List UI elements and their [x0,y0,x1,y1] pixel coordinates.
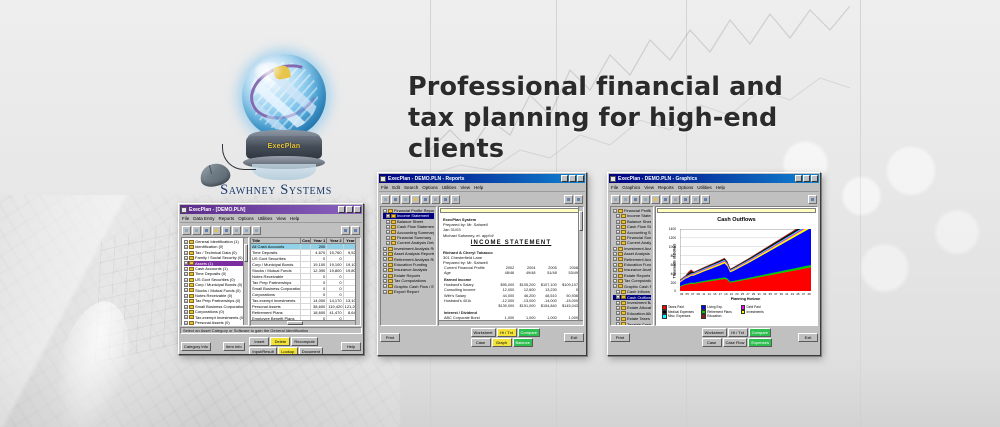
table-cell[interactable]: 0 [327,286,343,291]
lookup-button[interactable]: Lookup [278,347,298,355]
table-cell[interactable]: 19,100 [311,262,327,267]
table-cell[interactable] [301,244,311,249]
report-button-row-2[interactable]: Case Graph Balance [471,338,541,347]
tree-item[interactable]: +Family / Social Security (0) [184,255,246,260]
table-cell[interactable] [301,274,311,279]
window-data-entry-titlebar[interactable]: ExecPlan - [DEMO.PLN] [180,205,362,214]
folder-icon [621,214,626,218]
tree-expander-icon[interactable]: + [386,230,390,234]
page-title: Professional financial and tax planning … [408,72,828,165]
folder-icon [189,278,194,282]
edit-button-group[interactable]: Insert Delete Recompute Input/Result Loo… [249,337,323,355]
report-toolbar-preview-icon[interactable] [401,195,410,204]
chart-y-tick-label: 800 [665,254,676,258]
window-data-entry-title: ExecPlan - [DEMO.PLN] [189,207,338,213]
toolbar-new-icon[interactable] [182,226,191,235]
menu-item-options[interactable]: Options [238,216,254,221]
help-button[interactable]: Help [341,342,361,351]
report-button-row-1[interactable]: Worksheet Hi / Txt Compare [471,328,541,337]
logo-base-label: ExecPlan [246,143,322,150]
folder-icon [391,230,396,234]
menu-item-help[interactable]: Help [290,216,299,221]
tree-expander-icon[interactable]: + [616,230,620,234]
report-toolbar-help-icon[interactable] [574,195,583,204]
report-toolbar-find-icon[interactable] [411,195,420,204]
recompute-button[interactable]: Recompute [291,337,317,346]
tree-expander-icon[interactable]: + [184,261,188,265]
table-cell[interactable] [301,310,311,315]
table-cell[interactable] [301,268,311,273]
tree-expander-icon[interactable]: + [184,288,188,292]
tree-expander-icon[interactable]: + [613,284,617,288]
app-icon [181,207,187,213]
chart-toolbar-open-icon[interactable] [611,195,620,204]
window-data-entry[interactable]: ExecPlan - [DEMO.PLN] File Data Entry Re… [178,203,364,355]
window-chart-menubar[interactable]: File Graphics View Reports Options Utili… [609,184,819,192]
menu-item-view[interactable]: View [276,216,286,221]
tree-expander-icon[interactable]: + [184,251,188,255]
chart-tree-panel[interactable]: +Financial Profile Reports+Income Statem… [610,206,654,326]
chart-x-tick-label: 45 [796,292,799,296]
table-cell[interactable]: 4,670 [311,250,327,255]
report-menu-edit[interactable]: Edit [392,185,400,190]
chart-compare-button[interactable]: Compare [749,328,771,337]
grid-column-header[interactable]: Year 1 [311,238,327,243]
table-cell[interactable] [301,298,311,303]
chart-panel[interactable]: Cash Outflows Thousands of Dollars 14001… [655,206,818,326]
folder-icon [189,305,194,309]
table-cell[interactable] [301,286,311,291]
report-close-button[interactable] [577,175,584,182]
chart-x-tick-label: 49 [807,292,810,296]
tree-expander-icon[interactable]: + [383,268,387,272]
chart-print-button[interactable]: Print [610,333,630,342]
table-cell[interactable]: 12,390 [311,268,327,273]
report-case-button[interactable]: Case [471,338,491,347]
chart-toolbar-zoom-icon[interactable] [701,195,710,204]
item-info-button[interactable]: Item Info [223,342,245,351]
tree-expander-icon[interactable]: + [616,295,620,299]
chart-toolbar-save-icon[interactable] [621,195,630,204]
status-text: Select an Asset Category or Software to … [180,327,362,334]
toolbar-calc-icon[interactable] [222,226,231,235]
report-tree[interactable]: +Financial Profile Reports+Income Statem… [381,207,436,296]
window-data-entry-menubar[interactable]: File Data Entry Reports Options Utilitie… [180,215,362,223]
category-info-button[interactable]: Category Info [181,342,211,351]
report-button-group[interactable]: Worksheet Hi / Txt Compare Case Graph Ba… [471,328,541,347]
chart-window-controls[interactable] [795,175,818,182]
document-button[interactable]: Document [299,347,323,355]
toolbar-report-icon[interactable] [232,226,241,235]
table-cell[interactable]: 14,170 [327,298,343,303]
brand-name: Sawhney Systems [196,182,356,199]
window-data-entry-toolbar[interactable] [180,224,362,236]
folder-icon [189,299,194,303]
table-cell[interactable]: Corporations [251,292,301,297]
report-menu-help[interactable]: Help [474,185,483,190]
chart-legend-item: Education [701,314,738,319]
window-report-toolbar[interactable] [379,193,585,205]
chart-menu-utilities[interactable]: Utilities [697,185,712,190]
chart-x-tick-label: 17 [719,292,722,296]
tree-expander-icon[interactable]: + [383,279,387,283]
chart-toolbar-color-icon[interactable] [691,195,700,204]
tree-expander-icon[interactable]: + [386,241,390,245]
tree-item-label: Export Report [394,289,419,294]
tree-expander-icon[interactable]: + [184,305,188,309]
window-data-entry-buttonrow[interactable]: Category Info Item Info Insert Delete Re… [179,335,363,355]
table-cell[interactable]: 0 [311,286,327,291]
report-minimize-button[interactable] [561,175,568,182]
window-controls[interactable] [338,206,361,213]
chart-x-tick-label: 41 [785,292,788,296]
table-cell[interactable]: 18,600 [311,310,327,315]
tree-expander-icon[interactable]: + [184,299,188,303]
window-chart-title: ExecPlan - DEMO.PLN - Graphics [618,176,795,182]
table-cell[interactable]: 14,000 [311,298,327,303]
report-scrollbar-horizontal[interactable] [439,320,583,325]
table-cell[interactable] [327,244,343,249]
folder-icon [189,272,194,276]
table-cell[interactable]: 0 [311,280,327,285]
folder-icon [618,268,623,272]
chart-toolbar-print-icon[interactable] [631,195,640,204]
toolbar-open-icon[interactable] [192,226,201,235]
tree-expander-icon[interactable]: + [616,317,620,321]
report-toolbar-chart-icon[interactable] [431,195,440,204]
tree-expander-icon[interactable]: + [383,247,387,251]
grid-column-header[interactable]: Title [251,238,301,243]
folder-icon [621,290,626,294]
tree-expander-icon[interactable]: + [613,209,617,213]
table-cell[interactable] [301,304,311,309]
tree-expander-icon[interactable]: + [184,294,188,298]
folder-icon [618,279,623,283]
tree-expander-icon[interactable]: + [616,322,620,326]
menu-item-file[interactable]: File [182,216,189,221]
chart-y-tick-label: 1200 [665,236,676,240]
chart-toolbar-bar-icon[interactable] [641,195,650,204]
tree-item[interactable]: +Retirement Plans (0) [184,326,246,327]
chart-button-row-1[interactable]: Worksheet Hi / Txt Compare [702,328,772,337]
chart-legend: Taxes PaidLiving Exp.Debt PaidMedical Ex… [656,303,817,321]
report-exit-button[interactable]: Exit [564,333,584,342]
chart-menu-options[interactable]: Options [678,185,694,190]
chart-toolbar-legend-icon[interactable] [681,195,690,204]
folder-icon [621,322,626,326]
report-preview-banner [440,208,582,213]
table-cell[interactable]: 19,100 [327,262,343,267]
tree-expander-icon[interactable]: + [613,268,617,272]
table-cell[interactable]: 0 [327,274,343,279]
window-report-buttonrow[interactable]: Print Worksheet Hi / Txt Compare Case Gr… [378,326,586,349]
report-toolbar-print-icon[interactable] [391,195,400,204]
chart-menu-graphics[interactable]: Graphics [622,185,640,190]
close-button[interactable] [354,206,361,213]
asset-grid-panel[interactable]: TitleCostYear 1Year 2Year 3 All Cash Acc… [250,237,361,326]
chart-menu-reports[interactable]: Reports [658,185,674,190]
toolbar-graph-icon[interactable] [242,226,251,235]
table-cell[interactable]: 119,420 [327,304,343,309]
table-cell[interactable]: All Cash Accounts [251,244,301,249]
tree-expander-icon[interactable]: + [383,257,387,261]
grid-scroll-thumb[interactable] [287,321,303,325]
folder-icon [189,283,194,287]
tree-expander-icon[interactable]: + [616,225,620,229]
chart-x-tick-label: 19 [724,292,727,296]
report-print-button[interactable]: Print [380,333,400,342]
edit-button-row-2[interactable]: Input/Result Lookup Document [249,347,323,355]
chart-toolbar-line-icon[interactable] [661,195,670,204]
folder-icon [189,256,194,260]
tree-expander-icon[interactable]: + [613,247,617,251]
report-menu-view[interactable]: View [460,185,470,190]
folder-icon [189,267,194,271]
chart-hitxt-button[interactable]: Hi / Txt [728,328,748,337]
table-cell[interactable] [301,250,311,255]
folder-icon [388,290,393,294]
chart-legend-label: Investments [747,310,764,314]
chart-menu-view[interactable]: View [644,185,654,190]
chart-tree[interactable]: +Financial Profile Reports+Income Statem… [611,207,653,326]
tree-expander-icon[interactable]: + [184,321,188,325]
tree-expander-icon[interactable]: + [616,236,620,240]
report-toolbar-zoom-icon[interactable] [451,195,460,204]
tree-expander-icon[interactable]: + [616,220,620,224]
maximize-button[interactable] [346,206,353,213]
table-cell[interactable]: 0 [327,292,343,297]
menu-item-data-entry[interactable]: Data Entry [193,216,214,221]
tree-expander-icon[interactable]: + [184,310,188,314]
report-menu-utilities[interactable]: Utilities [442,185,457,190]
chart-button-group[interactable]: Worksheet Hi / Txt Compare Case Case Flo… [702,328,772,347]
table-cell[interactable]: Stocks / Mutual Funds [251,268,301,273]
chart-preview-banner [657,208,816,213]
toolbar-print-icon[interactable] [252,226,261,235]
toolbar-info-icon[interactable] [341,226,350,235]
toolbar-edit-icon[interactable] [212,226,221,235]
chart-x-tick-label: 33 [763,292,766,296]
chart-minimize-button[interactable] [795,175,802,182]
grid-scrollbar-vertical[interactable] [355,238,360,325]
table-cell[interactable]: 0 [327,280,343,285]
folder-icon [621,301,626,305]
chart-toolbar-area-icon[interactable] [671,195,680,204]
table-cell[interactable]: Small Business Corporations [251,286,301,291]
input-result-button[interactable]: Input/Result [249,347,276,355]
report-maximize-button[interactable] [569,175,576,182]
chart-y-tick-label: 400 [665,272,676,276]
tree-expander-icon[interactable]: + [184,283,188,287]
folder-icon [388,268,393,272]
chart-x-tick-label: 35 [769,292,772,296]
chart-x-tick-label: 29 [752,292,755,296]
chart-worksheet-button[interactable]: Worksheet [702,328,727,337]
tree-expander-icon[interactable]: + [184,256,188,260]
chart-legend-swatch [662,314,667,319]
chart-case-button[interactable]: Case [702,338,722,347]
tree-scroll-thumb[interactable] [244,244,248,262]
menu-item-utilities[interactable]: Utilities [258,216,273,221]
minimize-button[interactable] [338,206,345,213]
tree-scrollbar-vertical[interactable] [243,238,248,325]
grid-column-header[interactable]: Cost [301,238,311,243]
chart-toolbar-help-icon[interactable] [808,195,817,204]
table-cell[interactable] [301,292,311,297]
report-scroll-thumb[interactable] [579,211,583,231]
tree-expander-icon[interactable]: + [386,214,390,218]
toolbar-save-icon[interactable] [202,226,211,235]
report-menu-options[interactable]: Options [422,185,438,190]
tree-expander-icon[interactable]: + [613,263,617,267]
toolbar-help-icon[interactable] [351,226,360,235]
table-cell[interactable]: Time Deposits [251,250,301,255]
table-cell[interactable]: 19,800 [327,268,343,273]
mouse-cord [222,144,256,170]
window-chart-titlebar[interactable]: ExecPlan - DEMO.PLN - Graphics [609,174,819,183]
report-graph-button[interactable]: Graph [492,338,512,347]
chart-x-tick-label: 15 [713,292,716,296]
asset-grid-rows[interactable]: All Cash Accounts200Time Deposits4,67015… [251,244,360,326]
tree-expander-icon[interactable]: + [383,290,387,294]
tree-expander-icon[interactable]: + [383,209,387,213]
table-cell[interactable]: Retirement Plans [251,310,301,315]
tree-expander-icon[interactable]: + [184,272,188,276]
tree-expander-icon[interactable]: + [616,214,620,218]
chart-button-row-2[interactable]: Case Case Flow Expenses [702,338,772,347]
window-chart-buttonrow[interactable]: Print Worksheet Hi / Txt Compare Case Ca… [608,326,820,349]
insert-button[interactable]: Insert [249,337,269,346]
tree-expander-icon[interactable]: + [613,279,617,283]
tree-expander-icon[interactable]: + [383,263,387,267]
tree-item[interactable]: +Taxable Cash Flow [613,322,651,326]
tree-expander-icon[interactable]: + [386,225,390,229]
table-cell[interactable] [301,280,311,285]
folder-icon [621,306,626,310]
report-menu-file[interactable]: File [381,185,388,190]
folder-icon [391,220,396,224]
tree-expander-icon[interactable]: + [383,252,387,256]
folder-icon [618,247,623,251]
chart-x-tick-label: 43 [791,292,794,296]
chart-close-button[interactable] [811,175,818,182]
report-preview-panel[interactable]: ExecPlan System Prepared by: Mr. Sahwell… [438,206,584,326]
report-toolbar-export-icon[interactable] [421,195,430,204]
table-cell[interactable]: US Govt Securities [251,256,301,261]
tree-expander-icon[interactable]: + [383,274,387,278]
chart-caseflow-button[interactable]: Case Flow [723,338,748,347]
table-cell[interactable]: 0 [311,292,327,297]
chart-y-tick-label: 1000 [665,245,676,249]
report-toolbar-info-icon[interactable] [564,195,573,204]
background-bottom-shade [0,357,1000,427]
chart-toolbar-pie-icon[interactable] [651,195,660,204]
delete-button[interactable]: Delete [270,337,290,346]
report-menu-search[interactable]: Search [404,185,418,190]
chart-expenses-button[interactable]: Expenses [748,338,772,347]
report-tree-panel[interactable]: +Financial Profile Reports+Income Statem… [380,206,437,326]
table-cell[interactable]: 200 [311,244,327,249]
table-cell[interactable]: 0 [327,256,343,261]
report-toolbar-open-icon[interactable] [381,195,390,204]
chart-menu-file[interactable]: File [611,185,618,190]
table-cell[interactable]: 0 [311,274,327,279]
tree-expander-icon[interactable]: + [616,301,620,305]
report-hitxt-button[interactable]: Hi / Txt [497,328,517,337]
folder-icon [618,263,623,267]
report-worksheet-button[interactable]: Worksheet [471,328,496,337]
tree-expander-icon[interactable]: + [616,306,620,310]
menu-item-reports[interactable]: Reports [219,216,235,221]
tree-expander-icon[interactable]: + [616,241,620,245]
report-compare-button[interactable]: Compare [518,328,540,337]
window-chart[interactable]: ExecPlan - DEMO.PLN - Graphics File Grap… [607,172,821,356]
report-section-label: Interest / Dividend [443,309,579,316]
tree-expander-icon[interactable]: + [613,274,617,278]
tree-expander-icon[interactable]: + [184,267,188,271]
grid-scrollbar-horizontal[interactable] [251,320,360,325]
report-toolbar-compare-icon[interactable] [441,195,450,204]
window-report-menubar[interactable]: File Edit Search Options Utilities View … [379,184,585,192]
asset-tree-panel[interactable]: +General Identification (1)+Identificati… [181,237,249,326]
report-balance-button[interactable]: Balance [513,338,533,347]
chart-legend-label: Misc. Expenses [668,314,690,318]
table-cell[interactable] [301,262,311,267]
table-cell[interactable]: Notes Receivable [251,274,301,279]
chart-menu-help[interactable]: Help [716,185,725,190]
tree-expander-icon[interactable]: + [616,311,620,315]
table-cell[interactable]: 15,760 [327,250,343,255]
tree-expander-icon[interactable]: + [184,245,188,249]
tree-expander-icon[interactable]: + [184,315,188,319]
tree-expander-icon[interactable]: + [613,257,617,261]
folder-icon [189,310,194,314]
window-chart-toolbar[interactable] [609,193,819,205]
tree-expander-icon[interactable]: + [613,252,617,256]
tree-item[interactable]: +Export Report [383,289,434,294]
table-cell[interactable]: Personal Assets [251,304,301,309]
window-report-titlebar[interactable]: ExecPlan - DEMO.PLN - Reports [379,174,585,183]
tree-expander-icon[interactable]: + [386,236,390,240]
table-cell[interactable]: Tax-exempt Investments [251,298,301,303]
report-scrollbar-vertical[interactable] [578,207,583,325]
table-cell[interactable] [301,256,311,261]
chart-x-tick-label: 37 [774,292,777,296]
tree-expander-icon[interactable]: + [383,284,387,288]
table-cell[interactable]: Corp / Municipal Bonds [251,262,301,267]
tree-expander-icon[interactable]: + [184,278,188,282]
table-cell[interactable]: 41,470 [327,310,343,315]
headline-line-1: Professional financial and [408,72,828,103]
table-cell[interactable]: 38,600 [311,304,327,309]
chart-exit-button[interactable]: Exit [798,333,818,342]
grid-column-header[interactable]: Year 2 [327,238,343,243]
asset-tree[interactable]: +General Identification (1)+Identificati… [182,238,248,326]
chart-x-tick-label: 07 [691,292,694,296]
chart-y-tick-label: 600 [665,263,676,267]
window-report-title: ExecPlan - DEMO.PLN - Reports [388,176,561,182]
chart-maximize-button[interactable] [803,175,810,182]
edit-button-row-1[interactable]: Insert Delete Recompute [249,337,323,346]
table-cell[interactable]: Tax Prep Partnerships [251,280,301,285]
tree-expander-icon[interactable]: + [616,290,620,294]
chart-x-tick-label: 47 [802,292,805,296]
table-cell[interactable]: 0 [311,256,327,261]
report-window-controls[interactable] [561,175,584,182]
tree-expander-icon[interactable]: + [386,220,390,224]
tree-expander-icon[interactable]: + [184,240,188,244]
window-report[interactable]: ExecPlan - DEMO.PLN - Reports File Edit … [377,172,587,356]
